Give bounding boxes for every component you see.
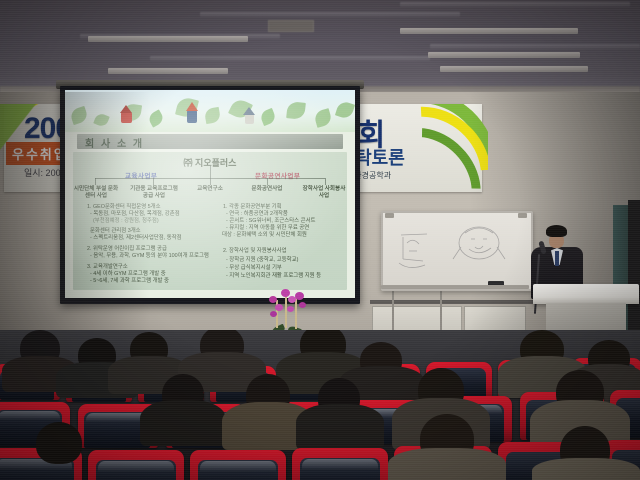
slide-right-line: 2. 장학사업 및 자원봉사사업 [223, 248, 287, 255]
audience-shoulders [532, 458, 640, 480]
orchid-bloom [275, 304, 283, 311]
house-roof-graphic [186, 102, 198, 111]
seat-highlight [0, 411, 60, 420]
seat-highlight [86, 413, 148, 422]
whiteboard-clip [518, 213, 527, 218]
ceiling-beam [200, 12, 460, 17]
slide-right-line: - 지역 노인복지회관 재활 프로그램 지원 등 [223, 273, 321, 280]
orchid-bloom [299, 302, 306, 308]
ceiling-light-fixture [88, 36, 248, 42]
ceiling-beam [430, 44, 640, 49]
photo-scene: 200 우수취업 일시: 2009. 수회 공전탁토론 대학교 환경공학과 [0, 0, 640, 480]
leaf-graphic [313, 108, 333, 128]
orchid-bloom [270, 311, 277, 317]
audience-shoulders [388, 448, 506, 480]
orchid-stem [285, 293, 287, 328]
whiteboard-clip [385, 213, 394, 218]
org-branch: 교육연구소 [187, 186, 233, 193]
audience-shoulders [140, 400, 226, 446]
orchid-bloom [295, 292, 304, 300]
seat-highlight [98, 461, 174, 472]
whiteboard [381, 211, 533, 291]
leaf-graphic [259, 108, 277, 126]
ceiling-beam [400, 2, 630, 7]
ceiling-vent [268, 20, 314, 32]
org-connector [267, 178, 268, 185]
house-graphic [245, 114, 254, 124]
speaker-tie [555, 251, 559, 266]
orchid-stem [295, 297, 297, 329]
podium-top [533, 284, 639, 304]
seat-highlight [200, 461, 276, 472]
org-connector [153, 178, 154, 185]
slide-right-line: - 장학금 지원 (중학교, 고등학교) [223, 257, 298, 264]
speaker-hair [546, 225, 567, 237]
org-connector [210, 166, 211, 178]
auditorium-seating [0, 330, 640, 480]
audience-shoulders [296, 404, 384, 450]
leaf-graphic [286, 101, 306, 120]
ceiling-light-fixture [108, 68, 228, 74]
ceiling-light-fixture [400, 28, 578, 34]
house-roof-graphic [243, 107, 255, 115]
whiteboard-tray [381, 285, 529, 289]
wall-shadow-left [0, 92, 150, 342]
house-graphic [187, 110, 197, 123]
leaf-graphic [204, 107, 221, 124]
slide-right-line: 대상 : 문화혜택 소외 및 시민단체 회원 [219, 232, 307, 239]
org-connector [325, 178, 326, 185]
leaf-graphic [335, 100, 355, 120]
audience-head [36, 422, 82, 464]
orchid-bloom [287, 306, 294, 312]
org-branch: 문화공연사업 [243, 186, 291, 193]
org-connector [210, 178, 211, 185]
org-branch: 장학사업 사회봉사 사업 [301, 186, 347, 200]
whiteboard-sketch [383, 213, 527, 285]
slide-right-line: - 무상 급식복지시설 기부 [223, 265, 282, 272]
orchid-bloom [269, 296, 277, 303]
ceiling-beam [150, 56, 430, 61]
ceiling-light-fixture [440, 66, 588, 72]
seat-highlight [302, 459, 378, 470]
ceiling-light-fixture [428, 52, 580, 58]
